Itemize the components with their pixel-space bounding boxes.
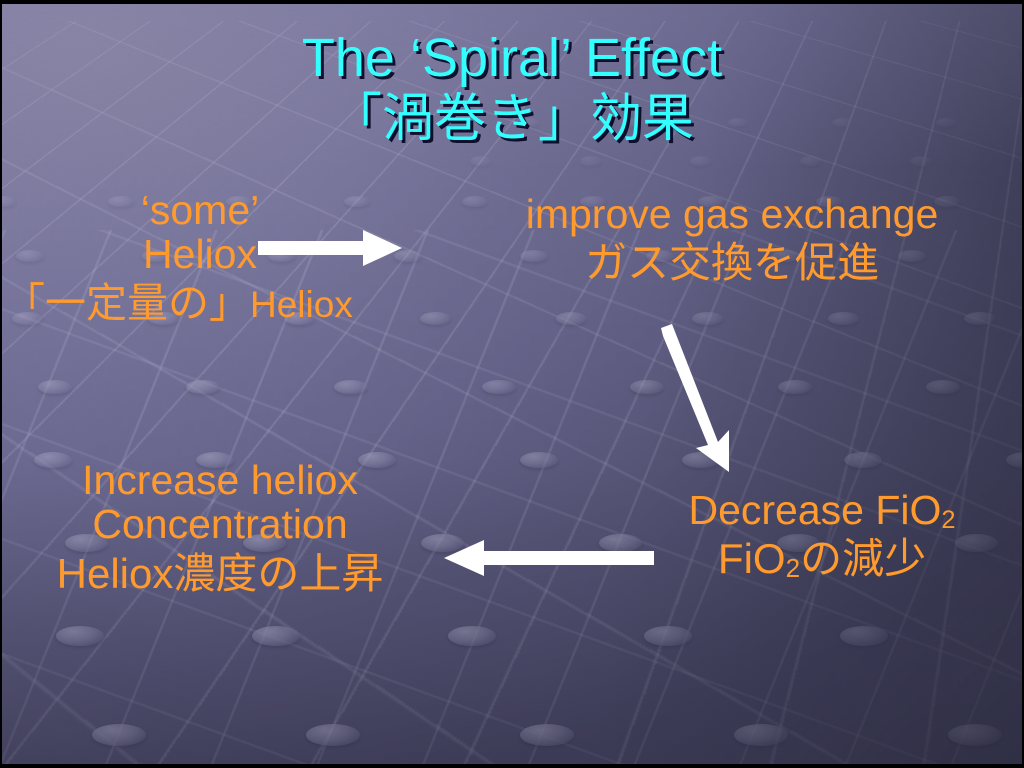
node-decrease-fio2: Decrease FiO2 FiO2の減少 [620, 488, 1024, 582]
slide-title-english: The ‘Spiral’ Effect [302, 28, 722, 88]
node-improve-gas-exchange-line1: improve gas exchange [526, 191, 939, 237]
arrow-some-to-improve [258, 228, 408, 270]
slide-frame-left [0, 0, 2, 768]
node-decrease-fio2-line1: Decrease FiO2 [688, 487, 955, 533]
left-arrow-icon [444, 540, 654, 576]
diagonal-down-right-arrow-icon [661, 324, 729, 472]
node-improve-gas-exchange: improve gas exchange ガス交換を促進 [452, 192, 1012, 286]
node-decrease-fio2-line1-subscript: 2 [941, 506, 955, 534]
node-decrease-fio2-line2-prefix: FiO [718, 535, 786, 582]
node-some-heliox-line2: Heliox [143, 231, 257, 277]
slide-frame-top [0, 0, 1024, 4]
presentation-slide: The ‘Spiral’ Effect 「渦巻き」効果 ‘some’ Helio… [0, 0, 1024, 768]
arrow-decrease-to-increase [440, 538, 658, 580]
node-decrease-fio2-line2: FiO2の減少 [620, 536, 1024, 581]
node-increase-heliox-concentration: Increase heliox Concentration Heliox濃度の上… [0, 458, 440, 596]
node-decrease-fio2-line2-japanese: の減少 [800, 535, 926, 582]
node-some-heliox-line3: 「一定量の」Heliox [0, 281, 400, 326]
slide-frame-bottom [0, 764, 1024, 768]
node-decrease-fio2-line2-subscript: 2 [786, 553, 800, 583]
right-arrow-icon [258, 230, 402, 266]
node-increase-heliox-line2: Concentration [92, 501, 347, 547]
node-some-heliox-line3-japanese: 「一定量の」 [4, 280, 250, 326]
slide-title-japanese: 「渦巻き」効果 [0, 88, 1024, 150]
node-improve-gas-exchange-line2: ガス交換を促進 [452, 240, 1012, 285]
node-decrease-fio2-line1-text: Decrease FiO [688, 487, 941, 533]
node-some-heliox-line1: ‘some’ [141, 187, 259, 233]
node-increase-heliox-line3: Heliox濃度の上昇 [0, 551, 440, 596]
arrow-improve-to-decrease [655, 322, 755, 477]
node-increase-heliox-line3-latin: Heliox [57, 550, 174, 597]
slide-title: The ‘Spiral’ Effect 「渦巻き」効果 [0, 28, 1024, 150]
node-increase-heliox-line3-japanese: 濃度の上昇 [173, 550, 383, 597]
node-some-heliox-line3-latin: Heliox [250, 284, 353, 325]
node-increase-heliox-line1: Increase heliox [82, 457, 358, 503]
